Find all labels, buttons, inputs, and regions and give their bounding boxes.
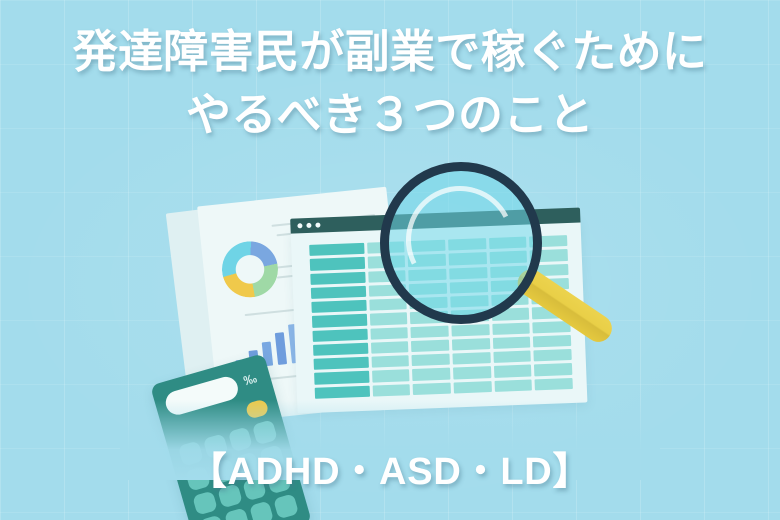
spreadsheet-key-cell xyxy=(311,300,366,313)
window-dot-icon xyxy=(297,223,302,228)
spreadsheet-key-cell xyxy=(314,371,369,384)
spreadsheet-key-cell xyxy=(310,257,365,270)
spreadsheet-cell xyxy=(413,382,451,395)
donut-chart xyxy=(219,239,281,301)
magnifier xyxy=(372,154,602,384)
percent-icon: ‰ xyxy=(240,370,260,390)
calculator-key xyxy=(199,515,225,520)
spreadsheet-key-cell xyxy=(310,271,365,284)
calculator-accent-key xyxy=(245,398,270,419)
subtitle-badge: 【ADHD・ASD・LD】 xyxy=(0,440,780,495)
window-dot-icon xyxy=(315,222,320,227)
calculator-display xyxy=(163,374,241,417)
page-title: 発達障害民が副業で稼ぐために やるべき３つのこと xyxy=(0,24,780,143)
spreadsheet-key-cell xyxy=(311,286,366,299)
headline-line-1: 発達障害民が副業で稼ぐために xyxy=(0,24,780,81)
spreadsheet-key-cell xyxy=(309,243,364,256)
calculator-key xyxy=(224,508,250,520)
calculator-key xyxy=(273,494,299,520)
thumbnail-canvas: ‰ 発達障害民が副業で稼ぐために やるべき３つのこと 【ADHD・ASD・LD】 xyxy=(0,0,780,520)
spreadsheet-key-cell xyxy=(312,314,367,327)
spreadsheet-key-cell xyxy=(313,343,368,356)
bar xyxy=(275,332,287,365)
spreadsheet-key-cell xyxy=(315,385,370,398)
spreadsheet-key-cell xyxy=(312,328,367,341)
spreadsheet-key-cell xyxy=(314,357,369,370)
headline-line-2: やるべき３つのこと xyxy=(0,87,780,144)
spreadsheet-cell xyxy=(372,384,410,397)
spreadsheet-analysis-illustration: ‰ xyxy=(150,178,630,450)
window-dot-icon xyxy=(306,223,311,228)
calculator-key xyxy=(249,501,275,520)
